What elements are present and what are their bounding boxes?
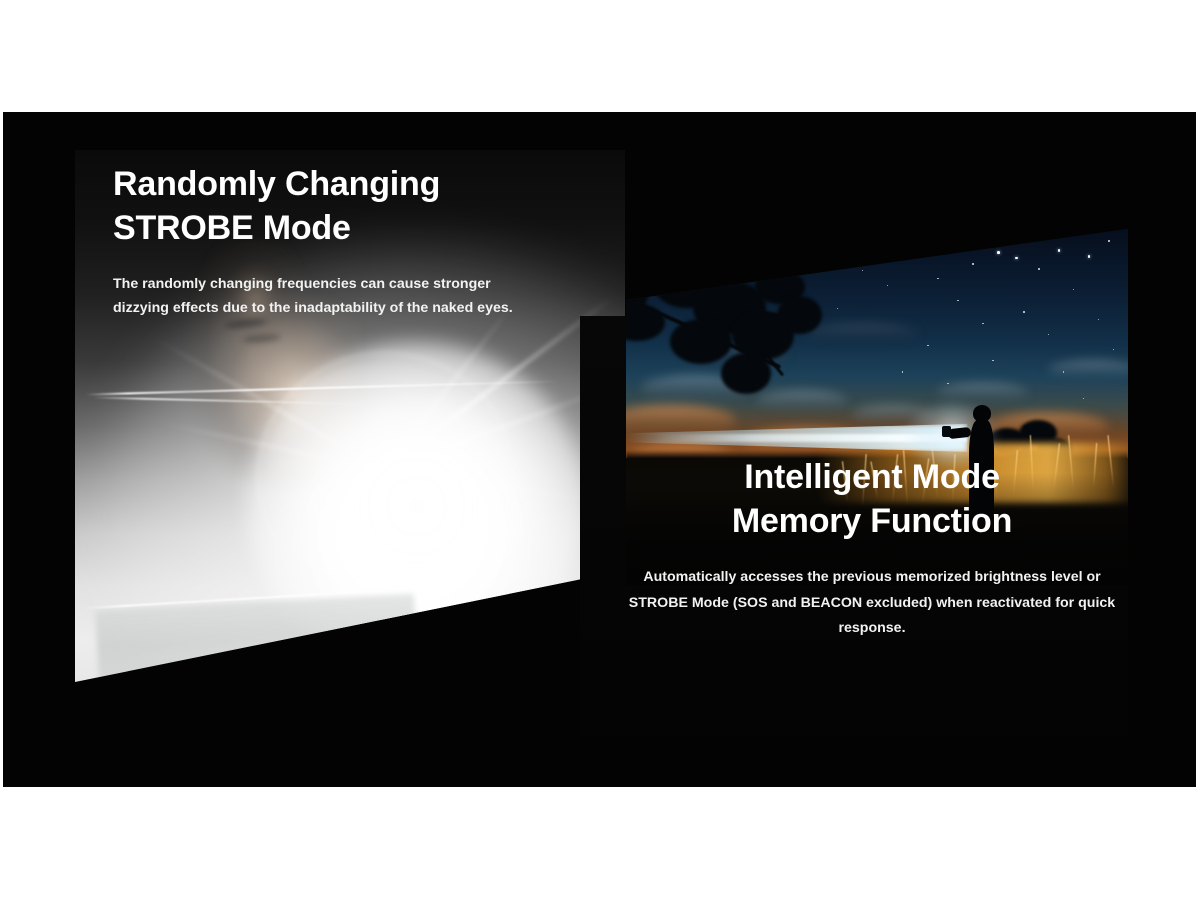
mode-memory-text-block: Intelligent Mode Memory Function Automat… (616, 455, 1128, 641)
star (992, 360, 993, 361)
star (967, 236, 969, 238)
star (902, 371, 903, 372)
feature-banner: Randomly Changing STROBE Mode The random… (3, 112, 1196, 787)
feature-card-mode-memory: Intelligent Mode Memory Function Automat… (580, 210, 1132, 738)
star (1113, 349, 1114, 350)
star (937, 278, 938, 279)
strobe-mode-title: Randomly Changing STROBE Mode (113, 163, 543, 250)
star (1048, 334, 1049, 335)
mode-memory-description: Automatically accesses the previous memo… (616, 565, 1128, 641)
star (1015, 257, 1018, 260)
star (887, 285, 888, 286)
tree-foliage (777, 296, 822, 334)
tree-silhouette (626, 255, 867, 443)
star (1073, 289, 1074, 290)
star (982, 323, 983, 324)
star (912, 255, 913, 256)
star (997, 251, 1000, 254)
tree-foliage (721, 353, 772, 394)
star (972, 263, 974, 265)
star (1023, 311, 1025, 313)
cloud (937, 383, 1027, 402)
star (947, 383, 948, 384)
star (1098, 319, 1099, 320)
flashlight-device (942, 426, 951, 436)
strobe-mode-text-block: Randomly Changing STROBE Mode The random… (113, 163, 543, 321)
tree-foliage (636, 251, 687, 281)
page-root: Randomly Changing STROBE Mode The random… (0, 0, 1200, 900)
mode-memory-title: Intelligent Mode Memory Function (616, 455, 1128, 543)
feature-card-strobe-mode: Randomly Changing STROBE Mode The random… (75, 150, 625, 682)
cloud (1048, 360, 1128, 379)
tree-foliage (670, 319, 732, 364)
star (1058, 249, 1061, 252)
tree-foliage (626, 304, 665, 342)
star (1083, 398, 1084, 399)
strobe-mode-description: The randomly changing frequencies can ca… (113, 272, 513, 321)
star (1088, 255, 1091, 258)
star (1108, 240, 1110, 242)
foreground-ridge (95, 594, 418, 682)
star (957, 300, 958, 301)
star (927, 345, 928, 346)
star (1038, 268, 1040, 270)
